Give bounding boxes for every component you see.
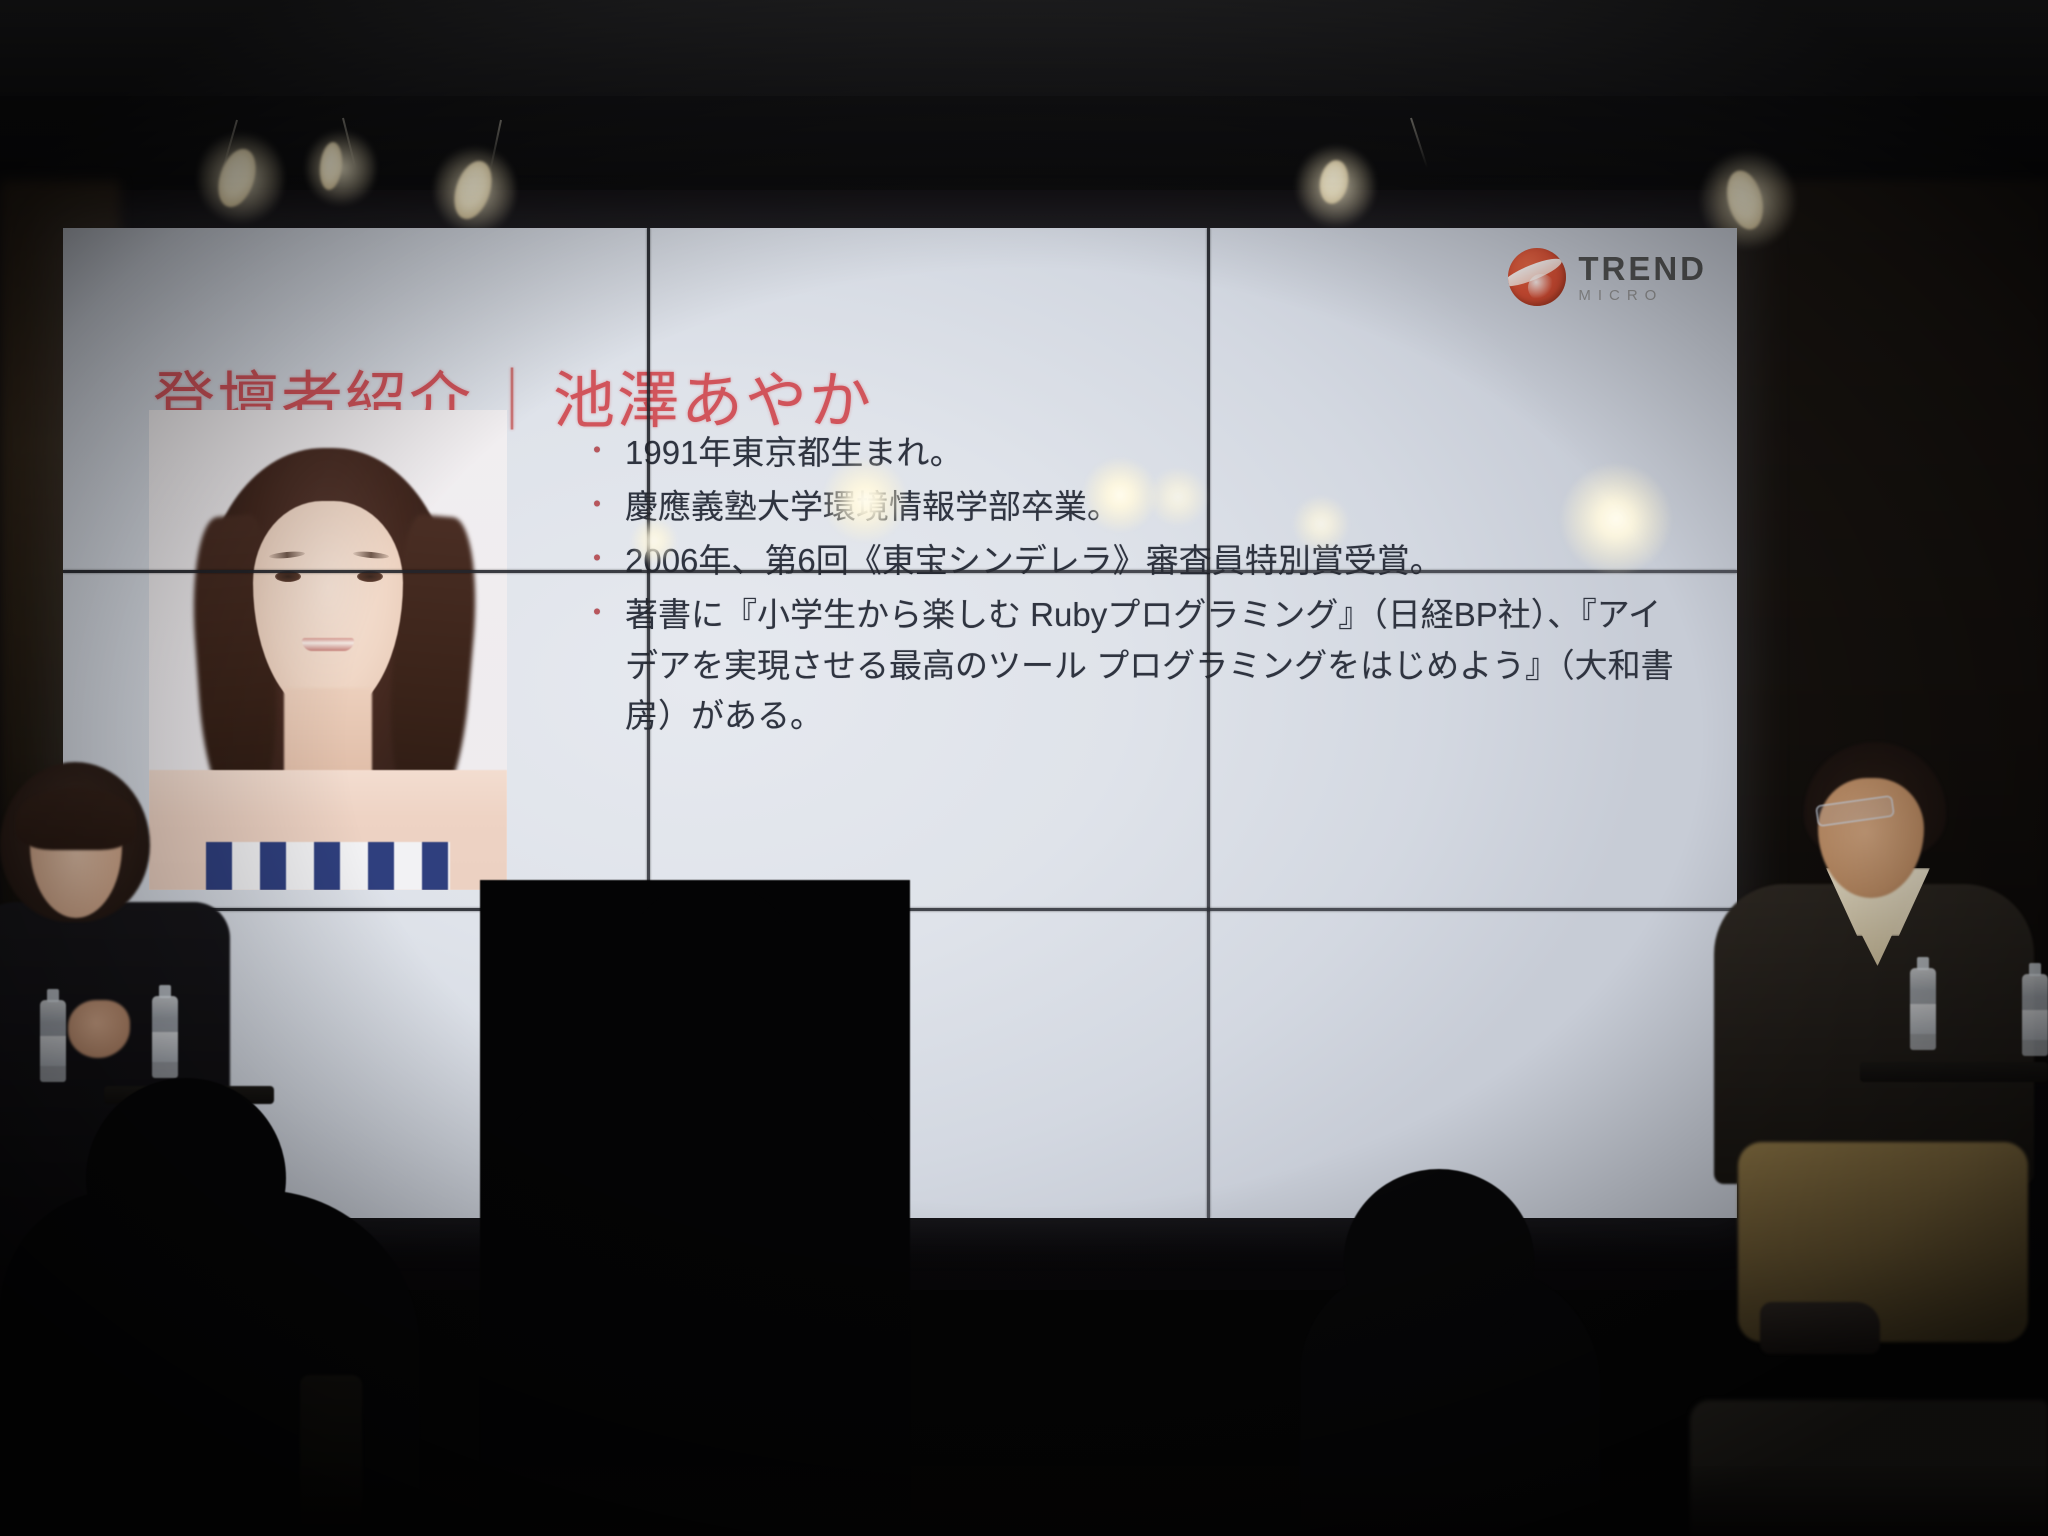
screen-seam-horizontal: [63, 570, 1737, 573]
bottle-label: [1910, 1004, 1936, 1034]
water-bottle: [152, 996, 178, 1078]
audience-head: [1344, 1169, 1534, 1349]
bullet-marker-icon: ・: [579, 482, 625, 527]
bullet-text: 2006年、第6回《東宝シンデレラ》審査員特別賞受賞。: [625, 536, 1684, 586]
track-light-glow: [1296, 144, 1376, 228]
bottle-label: [40, 1036, 66, 1066]
logo-trend-text: TREND: [1578, 252, 1707, 285]
list-item: ・ 1991年東京都生まれ。: [579, 428, 1684, 478]
panelist-right-shoe: [1760, 1302, 1880, 1354]
slide-bullet-list: ・ 1991年東京都生まれ。 ・ 慶應義塾大学環境情報学部卒業。 ・ 2006年…: [579, 428, 1684, 745]
list-item: ・ 2006年、第6回《東宝シンデレラ》審査員特別賞受賞。: [579, 536, 1684, 586]
portrait-mouth: [302, 638, 354, 651]
bullet-text: 1991年東京都生まれ。: [625, 428, 1684, 478]
water-bottle: [2022, 974, 2048, 1056]
bullet-marker-icon: ・: [579, 590, 625, 635]
track-light-glow: [434, 144, 516, 236]
trend-micro-ball-icon: [1508, 248, 1566, 306]
bullet-marker-icon: ・: [579, 536, 625, 581]
bullet-marker-icon: ・: [579, 428, 625, 473]
logo-micro-text: MICRO: [1578, 288, 1707, 303]
side-table: [1860, 1062, 2048, 1082]
list-item: ・ 慶應義塾大学環境情報学部卒業。: [579, 482, 1684, 532]
slide-title-name: 池澤あやか: [553, 367, 873, 436]
track-light-glow: [198, 130, 284, 226]
screen-seam-vertical: [1207, 228, 1210, 1218]
bottle-label: [152, 1032, 178, 1062]
portrait-striped-top: [206, 842, 449, 890]
trend-micro-logo: TREND MICRO: [1508, 248, 1707, 306]
list-item: ・ 著書に『小学生から楽しむ Rubyプログラミング』（日経BP社）、『アイデア…: [579, 590, 1684, 740]
panelist-left-fringe: [16, 788, 136, 850]
audience-head: [86, 1078, 286, 1278]
floor-edge: [0, 1466, 2048, 1536]
water-bottle: [40, 1000, 66, 1082]
audience-silhouette-center: [480, 880, 910, 1536]
water-bottle: [1910, 968, 1936, 1050]
track-light-glow: [306, 128, 376, 208]
photo-scene: 登壇者紹介｜池澤あやか: [0, 0, 2048, 1536]
bullet-text: 著書に『小学生から楽しむ Rubyプログラミング』（日経BP社）、『アイデアを実…: [625, 590, 1684, 740]
bottle-label: [2022, 1010, 2048, 1040]
trend-micro-wordmark: TREND MICRO: [1578, 252, 1707, 303]
panelist-right: [1708, 742, 2038, 1342]
bullet-text: 慶應義塾大学環境情報学部卒業。: [625, 482, 1684, 532]
portrait-neck: [284, 688, 372, 778]
